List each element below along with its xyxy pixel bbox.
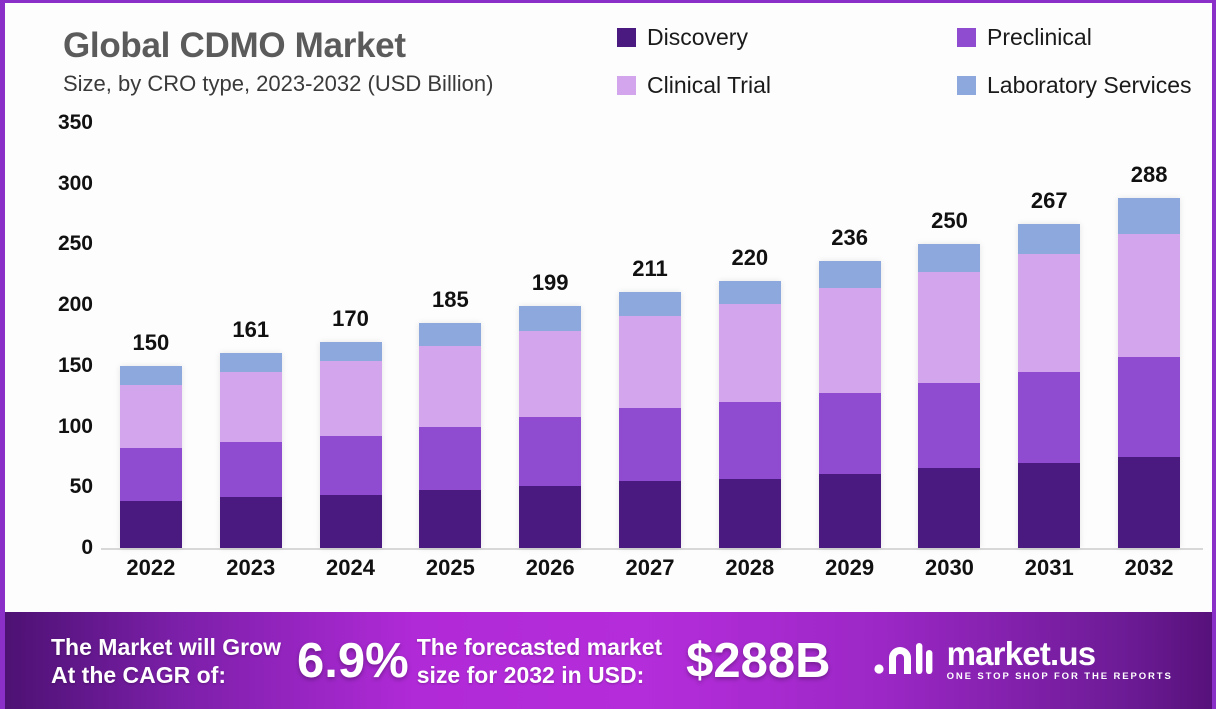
y-axis-tick: 250 xyxy=(33,232,93,256)
bar-segment-laboratory-services[interactable] xyxy=(419,323,481,346)
bar-segment-laboratory-services[interactable] xyxy=(619,292,681,316)
legend-label: Preclinical xyxy=(987,24,1092,51)
bar-stack[interactable] xyxy=(819,261,881,548)
legend-label: Clinical Trial xyxy=(647,72,771,99)
bar-segment-preclinical[interactable] xyxy=(1018,372,1080,463)
bar-total-label: 236 xyxy=(807,225,893,251)
forecast-value: $288B xyxy=(686,633,830,689)
bar-segment-preclinical[interactable] xyxy=(918,383,980,468)
y-axis-tick: 0 xyxy=(33,536,93,560)
page-title: Global CDMO Market xyxy=(63,25,493,67)
bar-total-label: 211 xyxy=(607,256,693,282)
market-us-logo[interactable]: market.us ONE STOP SHOP FOR THE REPORTS xyxy=(873,638,1173,683)
cagr-caption: The Market will Grow At the CAGR of: xyxy=(51,633,281,689)
legend-item-discovery[interactable]: Discovery xyxy=(617,13,957,61)
title-block: Global CDMO Market Size, by CRO type, 20… xyxy=(63,25,493,99)
x-axis-tick: 2028 xyxy=(707,555,793,581)
y-axis-tick: 100 xyxy=(33,415,93,439)
bottom-banner: The Market will Grow At the CAGR of: 6.9… xyxy=(5,612,1216,709)
bar-segment-discovery[interactable] xyxy=(918,468,980,548)
x-axis-line xyxy=(101,548,1203,550)
bar-segment-discovery[interactable] xyxy=(519,486,581,548)
bar-stack[interactable] xyxy=(220,353,282,548)
bar-segment-preclinical[interactable] xyxy=(220,442,282,497)
bars-area: 150161170185199211220236250267288 xyxy=(101,123,1199,548)
y-axis-tick: 200 xyxy=(33,293,93,317)
y-axis-tick: 350 xyxy=(33,111,93,135)
logo-tagline: ONE STOP SHOP FOR THE REPORTS xyxy=(947,670,1173,683)
x-axis-labels: 2022202320242025202620272028202920302031… xyxy=(101,555,1203,595)
bar-segment-laboratory-services[interactable] xyxy=(220,353,282,372)
x-axis-tick: 2025 xyxy=(407,555,493,581)
bar-segment-preclinical[interactable] xyxy=(619,408,681,481)
bar-stack[interactable] xyxy=(918,244,980,548)
bar-total-label: 199 xyxy=(507,270,593,296)
bar-segment-preclinical[interactable] xyxy=(519,417,581,486)
bar-segment-clinical-trial[interactable] xyxy=(619,316,681,408)
cagr-value: 6.9% xyxy=(297,633,409,689)
logo-wordmark: market.us xyxy=(947,635,1096,672)
bar-segment-clinical-trial[interactable] xyxy=(918,272,980,383)
x-axis-tick: 2026 xyxy=(507,555,593,581)
y-axis-tick: 300 xyxy=(33,172,93,196)
bar-segment-laboratory-services[interactable] xyxy=(1118,198,1180,233)
page-subtitle: Size, by CRO type, 2023-2032 (USD Billio… xyxy=(63,69,493,99)
cagr-caption-line1: The Market will Grow xyxy=(51,633,281,661)
x-axis-tick: 2031 xyxy=(1006,555,1092,581)
bar-segment-clinical-trial[interactable] xyxy=(1118,234,1180,358)
bar-segment-discovery[interactable] xyxy=(619,481,681,548)
bar-stack[interactable] xyxy=(719,281,781,548)
x-axis-tick: 2029 xyxy=(807,555,893,581)
bar-total-label: 161 xyxy=(208,317,294,343)
bar-total-label: 288 xyxy=(1106,162,1192,188)
bar-segment-preclinical[interactable] xyxy=(320,436,382,494)
legend-item-preclinical[interactable]: Preclinical xyxy=(957,13,1216,61)
forecast-caption-line1: The forecasted market xyxy=(417,633,662,661)
bar-segment-clinical-trial[interactable] xyxy=(419,346,481,426)
bar-segment-discovery[interactable] xyxy=(220,497,282,548)
bar-segment-discovery[interactable] xyxy=(819,474,881,548)
bar-stack[interactable] xyxy=(419,323,481,548)
bar-segment-clinical-trial[interactable] xyxy=(120,385,182,448)
x-axis-tick: 2022 xyxy=(108,555,194,581)
bar-total-label: 250 xyxy=(906,208,992,234)
bar-segment-preclinical[interactable] xyxy=(1118,357,1180,457)
bar-segment-preclinical[interactable] xyxy=(419,427,481,490)
bar-total-label: 220 xyxy=(707,245,793,271)
legend-swatch-icon xyxy=(957,76,976,95)
infographic-container: Global CDMO Market Size, by CRO type, 20… xyxy=(0,0,1216,709)
bar-total-label: 185 xyxy=(407,287,493,313)
bar-stack[interactable] xyxy=(320,342,382,548)
bar-segment-clinical-trial[interactable] xyxy=(320,361,382,436)
chart-plot-area: 050100150200250300350 150161170185199211… xyxy=(5,115,1216,608)
bar-segment-preclinical[interactable] xyxy=(120,448,182,500)
bar-total-label: 267 xyxy=(1006,188,1092,214)
bar-segment-discovery[interactable] xyxy=(1018,463,1080,548)
bar-segment-laboratory-services[interactable] xyxy=(918,244,980,272)
legend-label: Discovery xyxy=(647,24,748,51)
chart-legend: Discovery Preclinical Clinical Trial Lab… xyxy=(617,13,1216,109)
y-axis: 050100150200250300350 xyxy=(33,123,93,548)
y-axis-tick: 50 xyxy=(33,475,93,499)
legend-item-laboratory-services[interactable]: Laboratory Services xyxy=(957,61,1216,109)
bar-total-label: 150 xyxy=(108,330,194,356)
legend-label: Laboratory Services xyxy=(987,72,1192,99)
bar-segment-laboratory-services[interactable] xyxy=(819,261,881,288)
bar-segment-clinical-trial[interactable] xyxy=(719,304,781,402)
legend-item-clinical-trial[interactable]: Clinical Trial xyxy=(617,61,957,109)
bar-segment-clinical-trial[interactable] xyxy=(1018,254,1080,372)
bar-stack[interactable] xyxy=(519,306,581,548)
bar-stack[interactable] xyxy=(120,366,182,548)
bar-segment-clinical-trial[interactable] xyxy=(819,288,881,392)
x-axis-tick: 2024 xyxy=(308,555,394,581)
market-us-logo-mark-icon xyxy=(873,638,935,683)
chart-header: Global CDMO Market Size, by CRO type, 20… xyxy=(5,3,1216,115)
x-axis-tick: 2032 xyxy=(1106,555,1192,581)
bar-segment-discovery[interactable] xyxy=(120,501,182,548)
bar-segment-laboratory-services[interactable] xyxy=(519,306,581,330)
bar-segment-laboratory-services[interactable] xyxy=(1018,224,1080,254)
legend-swatch-icon xyxy=(617,28,636,47)
bar-segment-clinical-trial[interactable] xyxy=(519,331,581,417)
bar-segment-discovery[interactable] xyxy=(1118,457,1180,548)
bar-segment-laboratory-services[interactable] xyxy=(120,366,182,385)
bar-segment-laboratory-services[interactable] xyxy=(719,281,781,304)
bar-segment-discovery[interactable] xyxy=(419,490,481,548)
market-us-logo-text: market.us ONE STOP SHOP FOR THE REPORTS xyxy=(947,638,1173,683)
x-axis-tick: 2027 xyxy=(607,555,693,581)
bar-total-label: 170 xyxy=(308,306,394,332)
bar-segment-discovery[interactable] xyxy=(719,479,781,548)
bar-stack[interactable] xyxy=(1118,198,1180,548)
forecast-caption: The forecasted market size for 2032 in U… xyxy=(417,633,662,689)
cagr-caption-line2: At the CAGR of: xyxy=(51,661,281,689)
bar-segment-discovery[interactable] xyxy=(320,495,382,548)
x-axis-tick: 2030 xyxy=(906,555,992,581)
forecast-caption-line2: size for 2032 in USD: xyxy=(417,661,662,689)
bar-segment-preclinical[interactable] xyxy=(719,402,781,479)
legend-swatch-icon xyxy=(617,76,636,95)
bar-segment-clinical-trial[interactable] xyxy=(220,372,282,442)
bar-segment-preclinical[interactable] xyxy=(819,393,881,474)
bar-stack[interactable] xyxy=(619,292,681,548)
legend-swatch-icon xyxy=(957,28,976,47)
x-axis-tick: 2023 xyxy=(208,555,294,581)
bar-segment-laboratory-services[interactable] xyxy=(320,342,382,361)
y-axis-tick: 150 xyxy=(33,354,93,378)
bar-stack[interactable] xyxy=(1018,224,1080,548)
